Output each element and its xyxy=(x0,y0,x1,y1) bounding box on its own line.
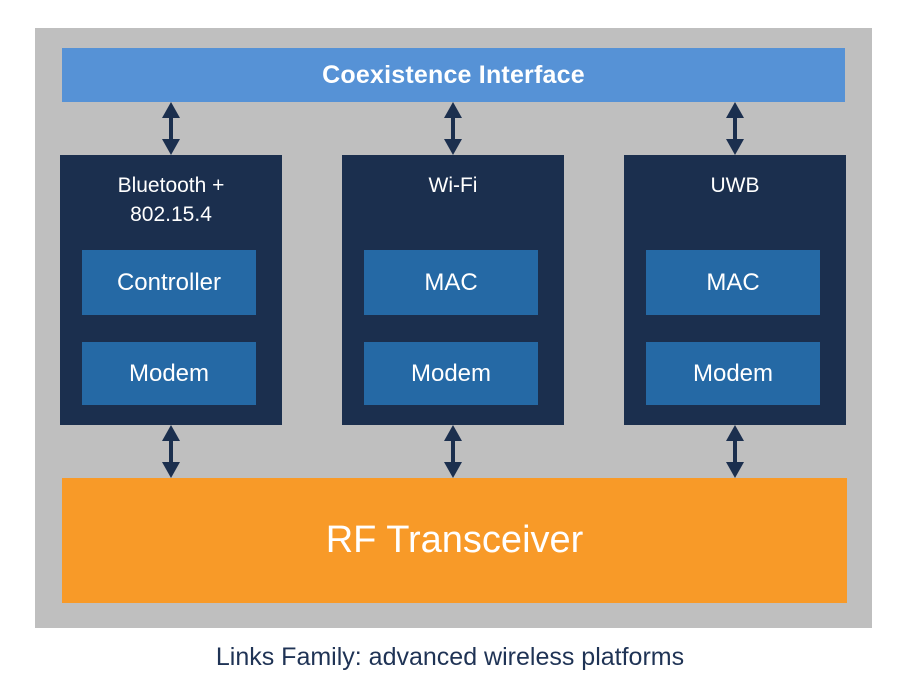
block-modem-wifi: Modem xyxy=(364,342,538,405)
double-arrow-icon-wifi-rf xyxy=(440,425,466,478)
block-label-mac-wifi: MAC xyxy=(424,269,477,297)
block-mac-uwb: MAC xyxy=(646,250,820,315)
block-label-mac-uwb: MAC xyxy=(706,269,759,297)
coexistence-interface-bar: Coexistence Interface xyxy=(62,48,845,102)
coexistence-interface-label: Coexistence Interface xyxy=(322,61,585,90)
stack-wifi: Wi-Fi MAC Modem xyxy=(342,155,564,425)
double-arrow-icon-coex-uwb xyxy=(722,102,748,155)
stack-title-bluetooth-802154: Bluetooth + 802.15.4 xyxy=(60,171,282,229)
stack-uwb: UWB MAC Modem xyxy=(624,155,846,425)
rf-transceiver-label: RF Transceiver xyxy=(326,519,584,562)
diagram-caption: Links Family: advanced wireless platform… xyxy=(0,643,900,672)
block-label-modem-bluetooth: Modem xyxy=(129,360,209,388)
rf-transceiver-bar: RF Transceiver xyxy=(62,478,847,603)
block-modem-uwb: Modem xyxy=(646,342,820,405)
diagram-canvas: Coexistence Interface xyxy=(0,0,900,696)
block-mac-wifi: MAC xyxy=(364,250,538,315)
double-arrow-icon-coex-bluetooth xyxy=(158,102,184,155)
stack-title-wifi: Wi-Fi xyxy=(342,171,564,200)
block-label-modem-uwb: Modem xyxy=(693,360,773,388)
block-label-modem-wifi: Modem xyxy=(411,360,491,388)
diagram-panel: Coexistence Interface xyxy=(35,28,872,628)
stack-title-uwb: UWB xyxy=(624,171,846,200)
double-arrow-icon-coex-wifi xyxy=(440,102,466,155)
block-modem-bluetooth: Modem xyxy=(82,342,256,405)
block-label-controller: Controller xyxy=(117,269,221,297)
double-arrow-icon-uwb-rf xyxy=(722,425,748,478)
double-arrow-icon-bluetooth-rf xyxy=(158,425,184,478)
block-controller: Controller xyxy=(82,250,256,315)
stack-bluetooth-802154: Bluetooth + 802.15.4 Controller Modem xyxy=(60,155,282,425)
